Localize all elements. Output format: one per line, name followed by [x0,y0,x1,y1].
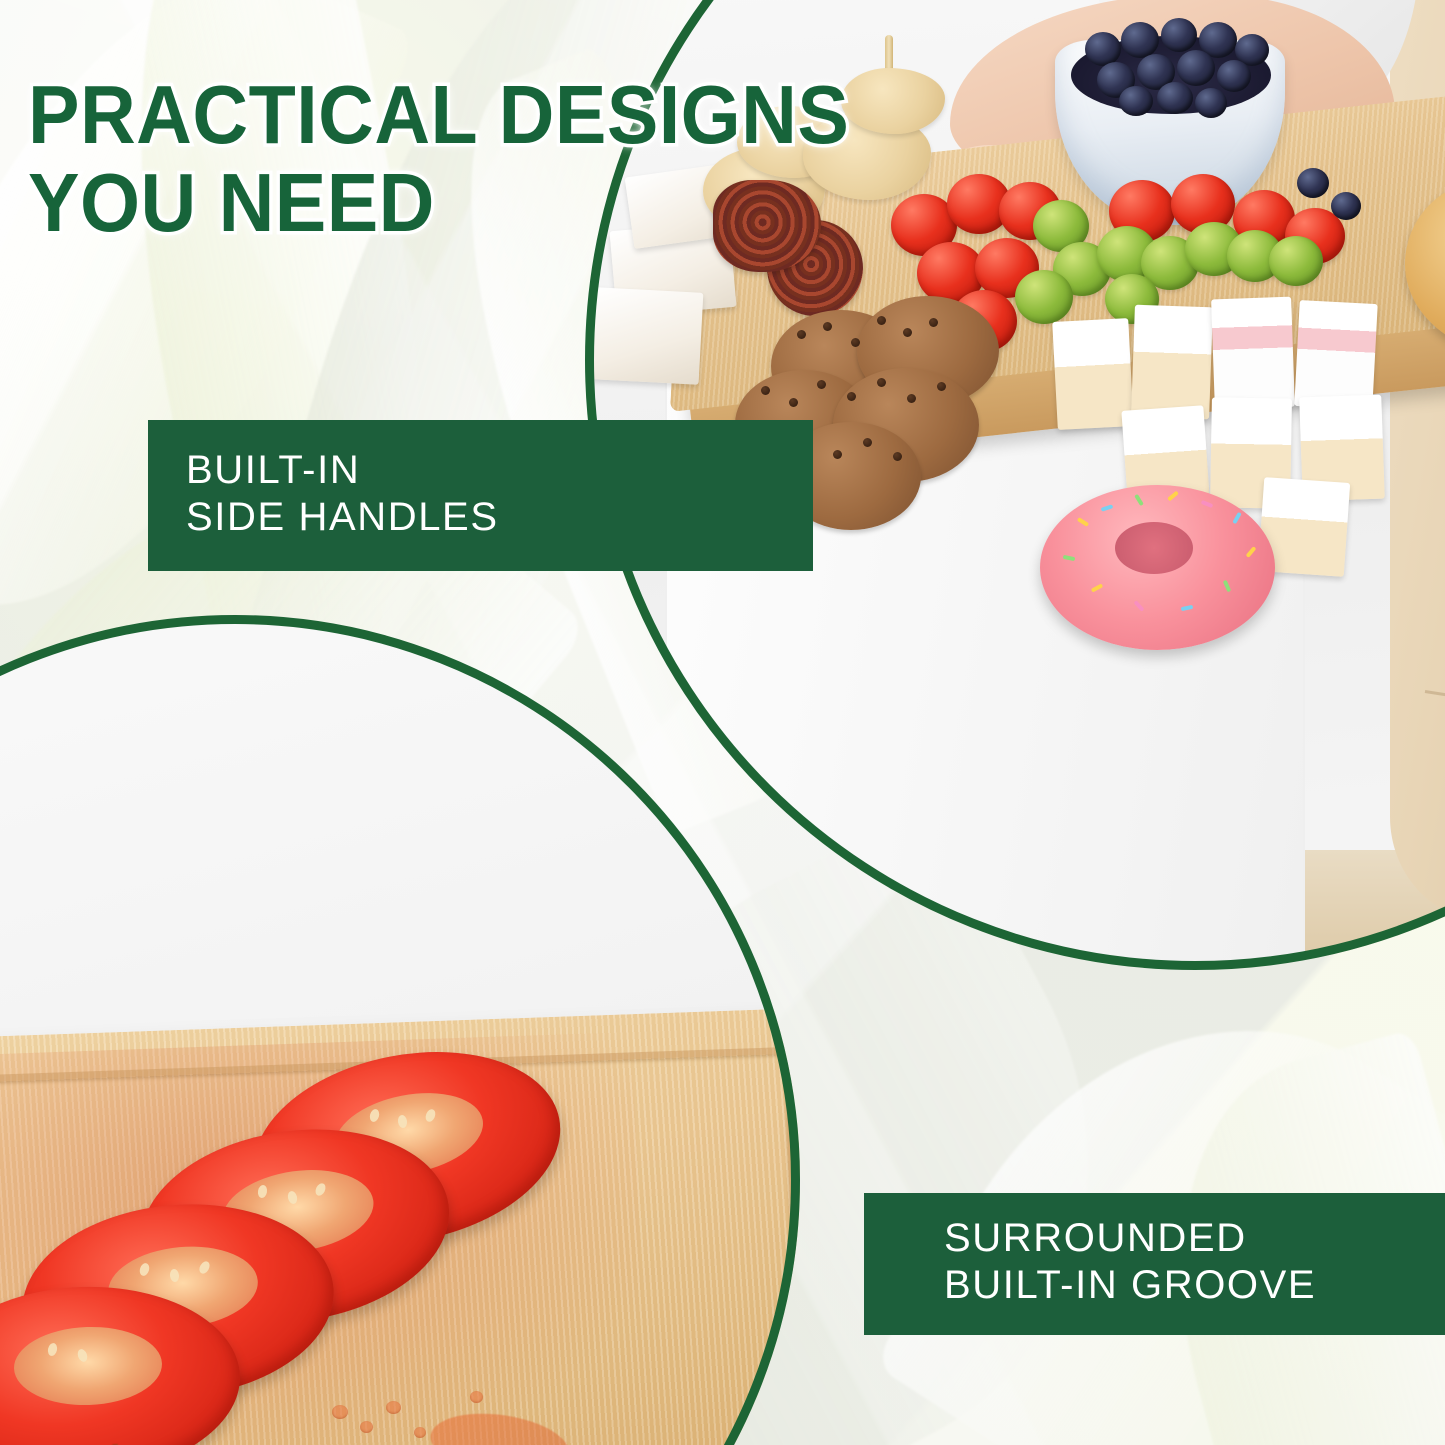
headline-line-1: PRACTICAL DESIGNS [28,76,849,154]
feature-1-line-1: BUILT-IN [186,448,360,492]
feature-2-line-2: BUILT-IN GROOVE [944,1262,1445,1309]
feature-2-line-1: SURROUNDED [944,1216,1247,1260]
feature-label-surrounded-built-in-groove: SURROUNDED BUILT-IN GROOVE [908,1193,1445,1335]
headline-line-2: YOU NEED [28,164,849,242]
feature-label-built-in-side-handles: BUILT-IN SIDE HANDLES [148,420,751,571]
feature-1-line-2: SIDE HANDLES [186,494,751,541]
photo-sliced-tomatoes: Hómaxy [0,615,800,1445]
product-infographic: Hómaxy PRACTICAL DESIGNS YOU NEED BUILT-… [0,0,1445,1445]
page-title: PRACTICAL DESIGNS YOU NEED [28,76,911,252]
